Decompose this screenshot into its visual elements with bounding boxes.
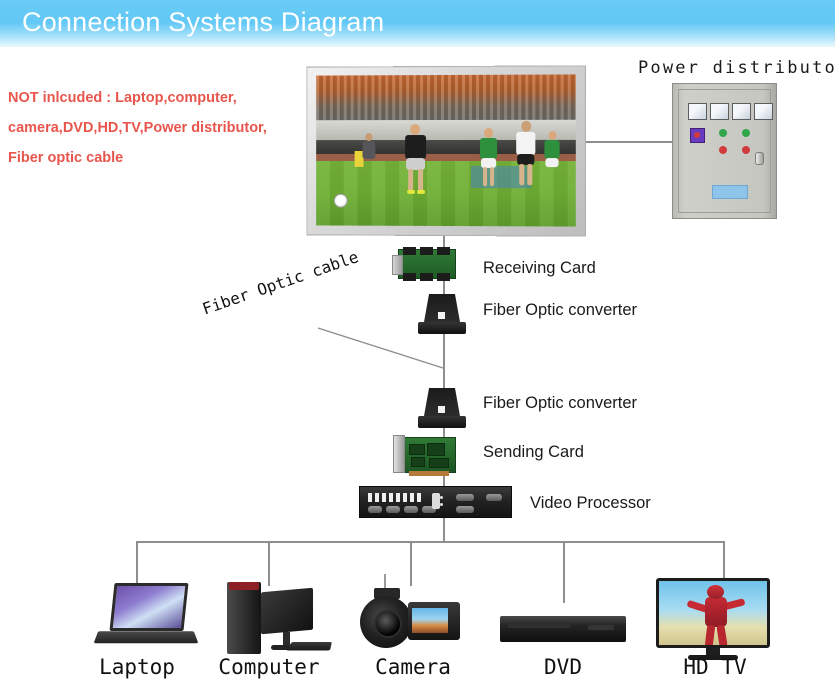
- sending-card-bracket: [393, 435, 405, 473]
- video-processor: [359, 486, 512, 518]
- tv-figure-leg-right: [716, 625, 727, 648]
- camera-lens: [374, 610, 402, 638]
- device-hd-tv: [656, 578, 774, 662]
- tv-figure-helmet: [707, 585, 724, 599]
- sc-chip-1: [409, 444, 425, 455]
- sc-chip-3: [411, 457, 425, 467]
- dvd-tray[interactable]: [508, 623, 570, 628]
- header-bar: Connection Systems Diagram: [0, 0, 835, 47]
- rc-connector-t2: [420, 247, 433, 255]
- sending-card-label: Sending Card: [483, 443, 584, 462]
- nameplate: [712, 185, 748, 199]
- sending-card: [400, 437, 456, 473]
- wire-screen-to-power: [586, 141, 674, 143]
- fiber-converter-bottom-label: Fiber Optic converter: [483, 394, 637, 413]
- rc-connector-t1: [403, 247, 416, 255]
- receiving-card-label: Receiving Card: [483, 259, 596, 278]
- lamp-red-1: [719, 146, 727, 154]
- camera-lcd-screen: [412, 608, 448, 633]
- meter-2: [710, 103, 729, 120]
- sc-chip-2: [427, 443, 445, 456]
- page-title: Connection Systems Diagram: [22, 7, 384, 38]
- diagram-canvas: Connection Systems Diagram NOT inlcuded …: [0, 0, 835, 700]
- device-camera: [360, 586, 464, 652]
- dvd-display: [588, 625, 614, 630]
- tv-figure-torso: [705, 597, 727, 627]
- fiber-optic-cable-label: Fiber Optic cable: [200, 247, 361, 318]
- wire-drop-hdtv: [723, 541, 725, 583]
- computer-tower: [227, 582, 261, 654]
- device-label-computer: Computer: [196, 655, 342, 679]
- tower-top-accent: [229, 582, 259, 590]
- meter-3: [732, 103, 751, 120]
- converter-base: [418, 322, 466, 334]
- vp-port-6: [456, 506, 474, 513]
- scene-wall: [316, 120, 576, 140]
- wire-source-bus: [136, 541, 724, 543]
- cabinet-door: [678, 89, 771, 213]
- dvd-player-body: [500, 616, 626, 642]
- not-included-note: NOT inlcuded : Laptop,computer, camera,D…: [8, 83, 328, 173]
- led-screen-frame: [306, 65, 586, 236]
- lamp-green-2: [742, 129, 750, 137]
- vp-port-7: [486, 494, 502, 501]
- receiving-card-bracket: [392, 255, 403, 275]
- selector-knob[interactable]: [690, 128, 705, 143]
- wire-drop-dvd: [563, 541, 565, 603]
- video-processor-label: Video Processor: [530, 494, 651, 513]
- fiber-cable-leader-line: [318, 328, 443, 368]
- door-handle[interactable]: [755, 152, 764, 165]
- meter-4: [754, 103, 773, 120]
- power-distributor-label: Power distributor: [638, 58, 835, 78]
- fiber-converter-top-label: Fiber Optic converter: [483, 301, 637, 320]
- vp-slot: [432, 493, 440, 509]
- device-laptop: [96, 583, 202, 649]
- camera-microphone: [384, 574, 386, 588]
- converter-indicator: [438, 312, 445, 319]
- meter-1: [688, 103, 707, 120]
- device-label-hd-tv: HD TV: [652, 655, 778, 679]
- vp-port-3: [404, 506, 418, 513]
- device-label-camera: Camera: [340, 655, 486, 679]
- rc-connector-b1: [403, 273, 416, 281]
- led-display-screen: [305, 66, 585, 236]
- note-line-2: camera,DVD,HD,TV,Power distributor,: [8, 113, 328, 143]
- device-dvd: [500, 616, 626, 644]
- sc-chip-4: [429, 458, 449, 468]
- device-label-laptop: Laptop: [66, 655, 208, 679]
- fiber-optic-converter-bottom: [418, 388, 466, 428]
- vp-port-5: [456, 494, 474, 501]
- lamp-green-1: [719, 129, 727, 137]
- laptop-keyboard-base: [94, 631, 199, 643]
- vp-port-1: [368, 506, 382, 513]
- wire-drop-laptop: [136, 541, 138, 586]
- sending-card-edge-connector: [409, 471, 449, 476]
- scene-pitch: [316, 161, 576, 227]
- device-label-dvd: DVD: [500, 655, 626, 679]
- note-line-3: Fiber optic cable: [8, 143, 328, 173]
- converter-indicator: [438, 406, 445, 413]
- receiving-card: [398, 249, 456, 279]
- computer-monitor: [261, 588, 313, 635]
- converter-base: [418, 416, 466, 428]
- vp-port-2: [386, 506, 400, 513]
- wire-drop-camera: [410, 541, 412, 586]
- tv-screen: [656, 578, 770, 648]
- laptop-screen: [109, 583, 188, 631]
- device-computer: [227, 578, 337, 654]
- computer-keyboard: [286, 642, 332, 651]
- lamp-red-2: [742, 146, 750, 154]
- led-screen-content: [316, 74, 576, 226]
- note-line-1: NOT inlcuded : Laptop,computer,: [8, 83, 328, 113]
- tv-figure-leg-left: [705, 625, 716, 648]
- power-distributor-cabinet: [672, 83, 777, 219]
- fiber-optic-converter-top: [418, 294, 466, 334]
- rc-connector-b2: [420, 273, 433, 281]
- scene-crowd: [316, 74, 576, 120]
- rc-connector-t3: [437, 247, 450, 255]
- rc-connector-b3: [437, 273, 450, 281]
